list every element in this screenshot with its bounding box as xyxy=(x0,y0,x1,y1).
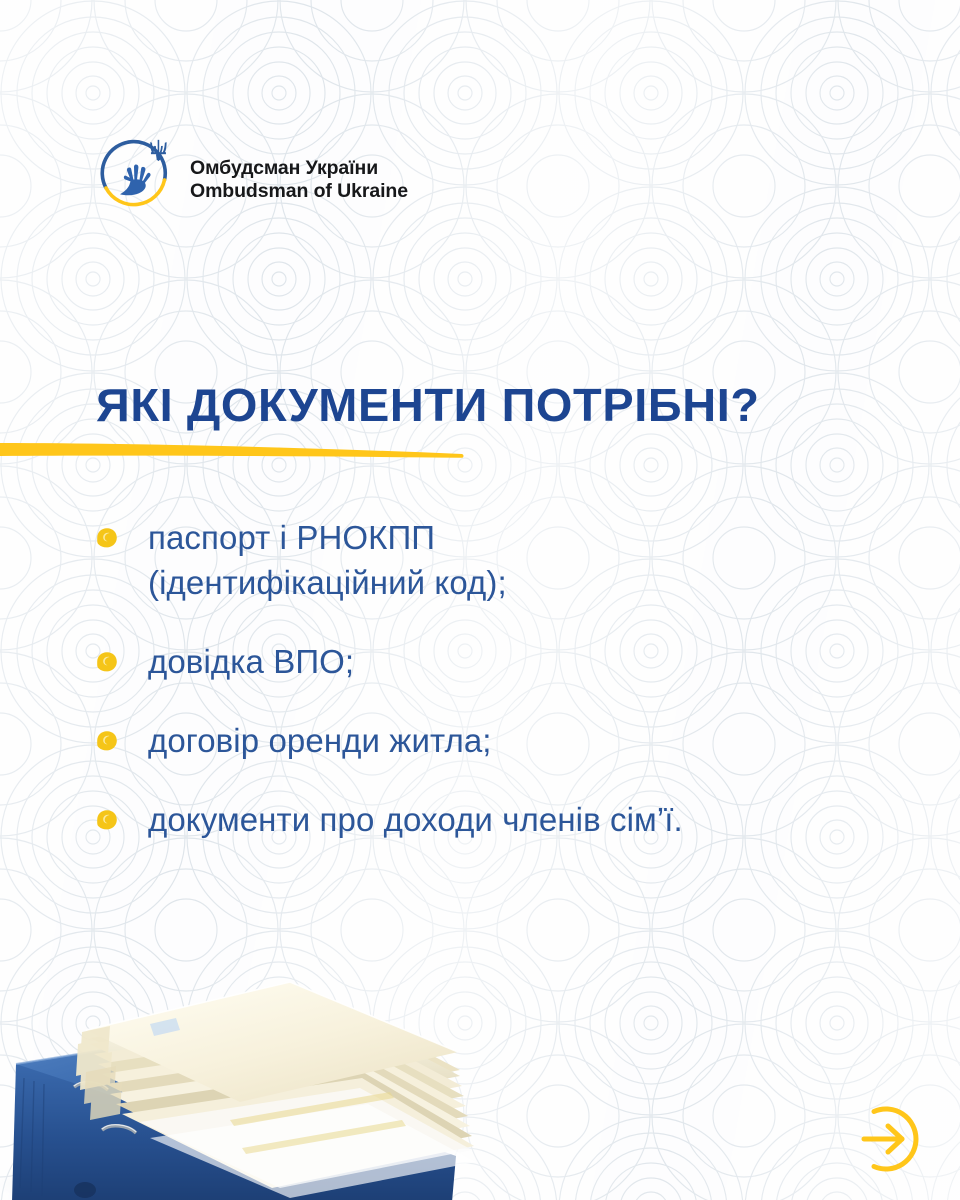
list-item: договір оренди житла; xyxy=(96,719,916,764)
next-arrow-button[interactable] xyxy=(852,1102,926,1176)
title-underline-swoosh-icon xyxy=(0,437,470,465)
page-title: ЯКІ ДОКУМЕНТИ ПОТРІБНІ? xyxy=(96,378,760,432)
list-item-label: паспорт і РНОКПП (ідентифікаційний код); xyxy=(148,516,507,606)
yellow-bullet-icon xyxy=(96,809,118,831)
list-item: довідка ВПО; xyxy=(96,640,916,685)
logo-title-ua: Омбудсман України xyxy=(190,157,408,180)
yellow-bullet-icon xyxy=(96,651,118,673)
logo-wordmark: Омбудсман України Ombudsman of Ukraine xyxy=(190,154,408,202)
logo-title-en: Ombudsman of Ukraine xyxy=(190,180,408,203)
list-item-label: договір оренди житла; xyxy=(148,719,492,764)
poster-canvas: Омбудсман України Ombudsman of Ukraine Я… xyxy=(0,0,960,1200)
list-item: паспорт і РНОКПП (ідентифікаційний код); xyxy=(96,516,916,606)
list-item: документи про доходи членів сім’ї. xyxy=(96,798,916,843)
list-item-label: документи про доходи членів сім’ї. xyxy=(148,798,683,843)
yellow-bullet-icon xyxy=(96,730,118,752)
list-item-label: довідка ВПО; xyxy=(148,640,354,685)
ombudsman-hand-emblem-icon xyxy=(98,136,176,220)
ombudsman-logo: Омбудсман України Ombudsman of Ukraine xyxy=(98,136,408,220)
documents-list: паспорт і РНОКПП (ідентифікаційний код);… xyxy=(96,516,916,842)
yellow-bullet-icon xyxy=(96,527,118,549)
binder-with-document-stack-image xyxy=(0,952,480,1200)
